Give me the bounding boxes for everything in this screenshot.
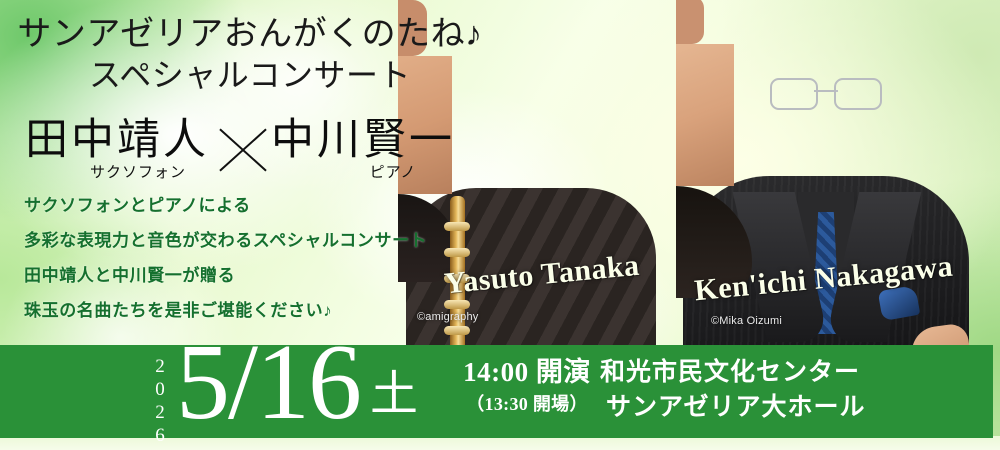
event-year: 2 0 2 6: [148, 357, 172, 449]
description-line-4: 珠玉の名曲たちを是非ご堪能ください♪: [24, 302, 427, 319]
nakagawa-neck: [676, 0, 704, 44]
event-open-time: （13:30 開場）: [443, 395, 611, 414]
year-digit-4: 6: [148, 426, 172, 445]
description-line-1: サクソフォンとピアノによる: [24, 197, 427, 214]
venue-name: 和光市民文化センター: [600, 359, 940, 388]
photo-credit-nakagawa: ©Mika Oizumi: [711, 315, 782, 327]
eyeglasses-icon: [770, 78, 882, 108]
photo-credit-tanaka: ©amigraphy: [417, 311, 478, 323]
event-day-of-week: 土: [370, 371, 418, 419]
event-info-band: 2 0 2 6 5/16 土 14:00 開演 （13:30 開場） 和光市民文…: [0, 345, 993, 438]
poster-title-line-2: スペシャルコンサート: [0, 55, 500, 97]
concert-poster: Yasuto Tanaka Ken'ichi Nakagawa ©amigrap…: [0, 0, 1000, 450]
description-block: サクソフォンとピアノによる 多彩な表現力と音色が交わるスペシャルコンサート 田中…: [24, 197, 427, 337]
poster-title-line-1: サンアゼリアおんがくのたね♪: [0, 14, 500, 55]
event-date: 5/16: [176, 329, 360, 437]
year-digit-1: 2: [148, 357, 172, 376]
description-line-3: 田中靖人と中川賢一が贈る: [24, 267, 427, 284]
year-digit-2: 0: [148, 380, 172, 399]
venue-hall: サンアゼリア大ホール: [606, 394, 940, 423]
performer-role-tanaka: サクソフォン: [64, 165, 212, 182]
performer-role-nakagawa: ピアノ: [328, 165, 458, 182]
cross-separator-icon: [218, 124, 268, 176]
performer-names-row: 田中靖人 サクソフォン 中川賢一 ピアノ: [12, 118, 492, 188]
performer-name-tanaka: 田中靖人: [22, 118, 212, 163]
event-venue-block: 和光市民文化センター サンアゼリア大ホール: [600, 359, 940, 423]
performer-name-block-nakagawa: 中川賢一 ピアノ: [268, 118, 458, 182]
event-start-time: 14:00 開演: [443, 358, 611, 386]
performer-name-nakagawa: 中川賢一: [268, 118, 458, 163]
headline-block: サンアゼリアおんがくのたね♪ スペシャルコンサート: [0, 14, 500, 97]
description-line-2: 多彩な表現力と音色が交わるスペシャルコンサート: [24, 232, 427, 249]
nakagawa-face: [676, 44, 734, 186]
event-time-block: 14:00 開演 （13:30 開場）: [443, 358, 611, 414]
performer-name-block-tanaka: 田中靖人 サクソフォン: [22, 118, 212, 182]
year-digit-3: 2: [148, 403, 172, 422]
